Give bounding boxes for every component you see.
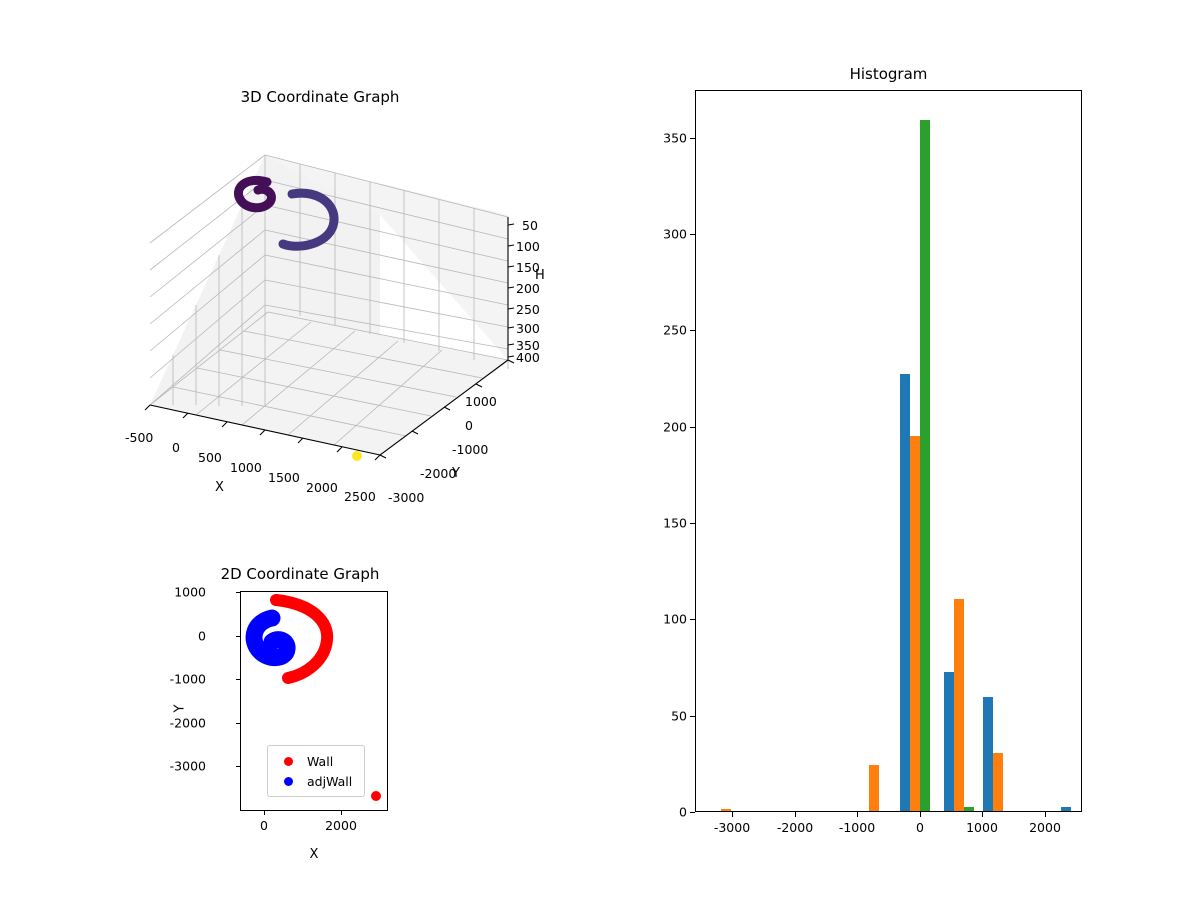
histogram-ytick-5: 250: [663, 323, 687, 338]
plot3d-xtick-3: 1000: [230, 460, 262, 475]
wall-isolated-point: [371, 791, 381, 801]
legend-swatch-adjwall-icon: [284, 777, 293, 786]
plot3d-xlabel: X: [215, 480, 224, 495]
plot3d-xtick-1: 0: [172, 440, 180, 455]
plot3d-ztick-3: 200: [516, 281, 540, 296]
plot3d-ztick-1: 100: [516, 239, 540, 254]
histogram-xtickmark-2: [857, 812, 858, 817]
legend-label-adjwall: adjWall: [307, 774, 352, 789]
histogram-bar-s1-1: [944, 672, 954, 811]
isolated-marker-point: [352, 451, 362, 461]
histogram-bar-s2-1: [869, 765, 879, 811]
plot3d-zlabel: H: [535, 268, 545, 283]
plot2d-axes: Wall adjWall: [240, 591, 388, 811]
plot3d-xtick-5: 2000: [306, 480, 338, 495]
plot3d-ylabel: Y: [452, 466, 460, 481]
axis-h-ticks: [508, 224, 514, 357]
histogram-xtickmark-5: [1045, 812, 1046, 817]
histogram-xtick-5: 2000: [1029, 820, 1061, 835]
plot3d-ztick-7: 400: [516, 350, 540, 365]
adjwall-spiral: [254, 618, 287, 658]
plot3d-xtick-0: -500: [125, 430, 153, 445]
plot3d-xtick-2: 500: [198, 450, 222, 465]
plot2d-xtick-0: 0: [260, 818, 268, 833]
legend-label-wall: Wall: [307, 754, 333, 769]
plot2d-ytick-2: -1000: [170, 672, 206, 687]
histogram-xtickmark-3: [920, 812, 921, 817]
plot2d-ytick-3: -2000: [170, 716, 206, 731]
matplotlib-figure: 3D Coordinate Graph: [0, 0, 1200, 900]
plot3d-ytick-3: -2000: [420, 466, 456, 481]
histogram-xtick-0: -3000: [714, 820, 750, 835]
plot2d-legend: Wall adjWall: [267, 745, 365, 797]
histogram-ytick-6: 300: [663, 227, 687, 242]
histogram-ytick-1: 50: [671, 709, 687, 724]
plot3d-ytick-2: -1000: [452, 442, 488, 457]
legend-item-wall: Wall: [274, 751, 358, 771]
histogram-bar-s1-3: [1061, 807, 1071, 811]
histogram-xtick-1: -2000: [777, 820, 813, 835]
plot2d-ylabel: Y: [172, 705, 187, 713]
plot2d-xtickmark-1: [341, 811, 342, 815]
plot3d-ztick-0: 50: [522, 218, 538, 233]
histogram-ytick-7: 350: [663, 131, 687, 146]
plot-2d-title: 2D Coordinate Graph: [150, 565, 450, 583]
histogram-ytick-3: 150: [663, 516, 687, 531]
plot-3d-coordinate-graph: 3D Coordinate Graph: [120, 60, 590, 520]
histogram-bar-s3-0: [920, 120, 930, 811]
plot3d-ztick-4: 250: [516, 302, 540, 317]
plot3d-ytick-1: 0: [465, 418, 473, 433]
histogram-bar-s2-4: [993, 753, 1003, 811]
histogram-axes: [695, 90, 1082, 812]
histogram-bar-s2-0: [721, 809, 731, 811]
plot-histogram: Histogram 0 50 100 150 200 250 300 350: [640, 55, 1110, 845]
plot2d-ytick-0: 1000: [174, 585, 206, 600]
plot2d-xlabel: X: [240, 847, 388, 862]
histogram-xtickmark-0: [732, 812, 733, 817]
histogram-xtick-4: 1000: [966, 820, 998, 835]
plot2d-ytick-1: 0: [198, 629, 206, 644]
histogram-ytick-4: 200: [663, 420, 687, 435]
legend-item-adjwall: adjWall: [274, 771, 358, 791]
plot3d-ytick-4: -3000: [388, 490, 424, 505]
histogram-bar-s1-0: [900, 374, 910, 811]
plot3d-ytick-0: 1000: [465, 394, 497, 409]
histogram-title: Histogram: [695, 65, 1082, 83]
histogram-bar-s2-3: [954, 599, 964, 811]
legend-swatch-wall-icon: [284, 757, 293, 766]
histogram-ytick-0: 0: [679, 805, 687, 820]
histogram-xtick-2: -1000: [839, 820, 875, 835]
histogram-ytick-2: 100: [663, 612, 687, 627]
plot3d-ztick-5: 300: [516, 321, 540, 336]
histogram-bar-s3-1: [964, 807, 974, 811]
histogram-bar-s1-2: [983, 697, 993, 811]
histogram-xtickmark-4: [982, 812, 983, 817]
plot2d-xtick-1: 2000: [325, 818, 357, 833]
plot2d-xtickmark-0: [264, 811, 265, 815]
plot-2d-coordinate-graph: 2D Coordinate Graph 1000 0 -1000 -2000 -…: [150, 555, 450, 875]
histogram-xtickmark-1: [795, 812, 796, 817]
histogram-ytickmark-0: [690, 812, 695, 813]
plot3d-xtick-6: 2500: [344, 489, 376, 504]
plot3d-xtick-4: 1500: [268, 470, 300, 485]
plot2d-ytick-4: -3000: [170, 759, 206, 774]
histogram-bar-s2-2: [910, 436, 920, 811]
histogram-xtick-3: 0: [916, 820, 924, 835]
